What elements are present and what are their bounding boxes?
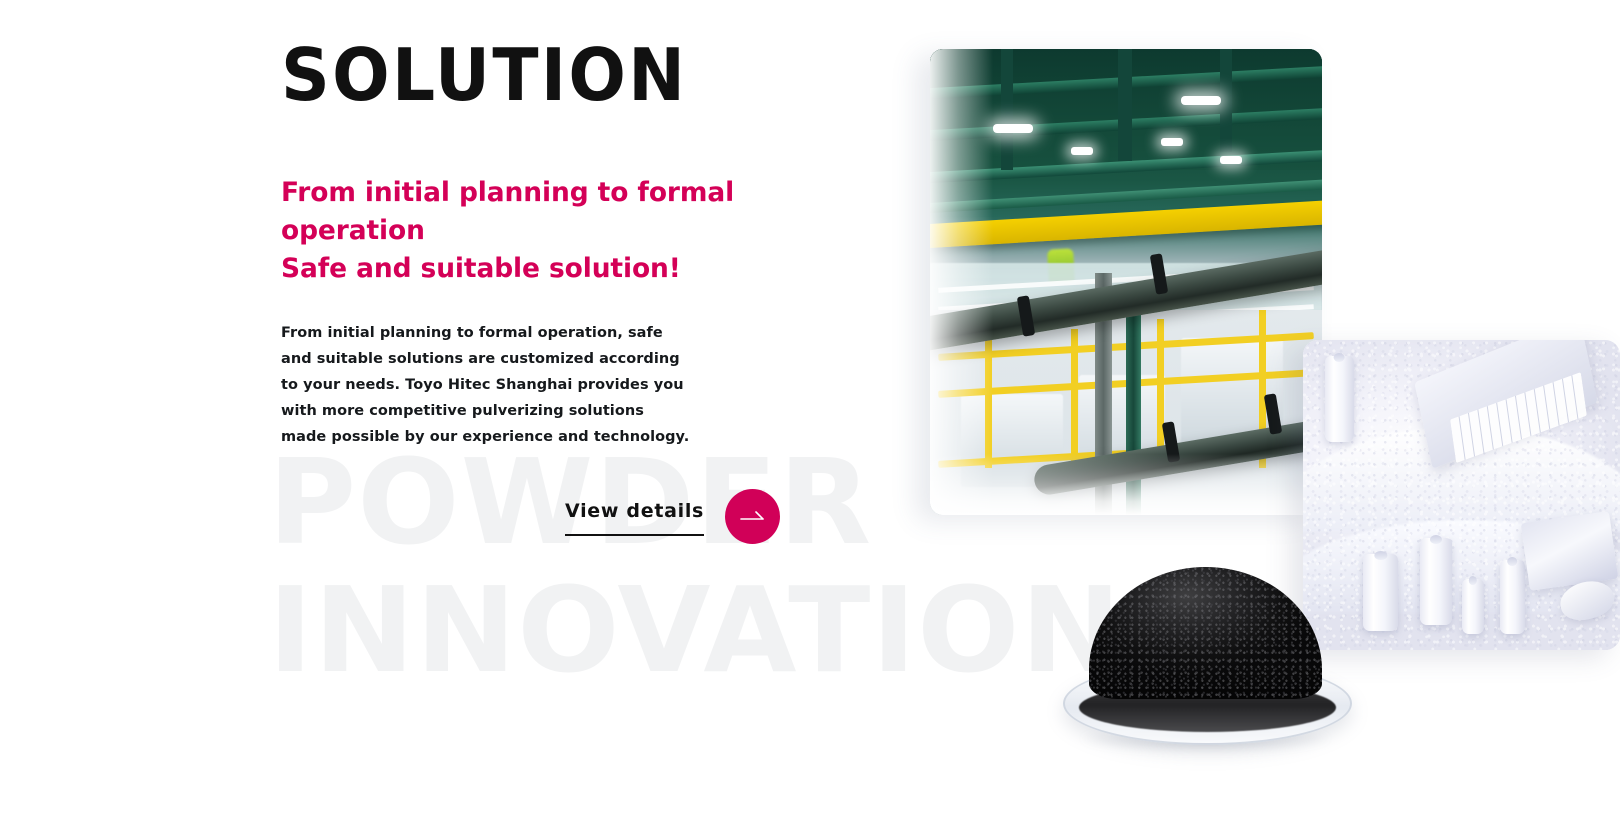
factory-beam [1220,49,1232,152]
factory-ceiling-lamp [1181,96,1221,105]
factory-yellow-post [1071,329,1078,469]
factory-beam [1001,49,1013,170]
display-panel [1521,511,1618,591]
black-powder-grain-texture [1089,567,1323,699]
view-details-button[interactable]: View details [565,489,780,547]
factory-beam [1118,49,1132,161]
factory-ceiling-lamp [1071,147,1093,155]
battery-cell [1420,538,1452,625]
factory-yellow-post [985,338,992,468]
section-headline: From initial planning to formal operatio… [281,174,869,288]
factory-ceiling-lamp [1220,156,1242,164]
white-powder-products-photo [1303,340,1620,650]
factory-ceiling-lamp [993,124,1033,133]
factory-ceiling-lamp [1161,138,1183,146]
battery-cell [1500,560,1525,634]
battery-cell [1325,356,1354,443]
solution-section: POWDER INNOVATION SOLUTION From initial … [0,0,1620,820]
battery-cell [1462,579,1484,635]
view-details-label: View details [565,500,704,522]
arrow-right-icon[interactable] [725,489,780,544]
factory-scene [930,49,1322,515]
page-title: SOLUTION [281,33,864,117]
section-content: SOLUTION From initial planning to formal… [281,33,901,450]
factory-interior-photo [930,49,1322,515]
section-body-text: From initial planning to formal operatio… [281,320,693,450]
battery-cell [1363,554,1398,632]
black-powder-mound [1089,567,1323,699]
headline-line-1: From initial planning to formal operatio… [281,174,869,250]
view-details-label-underline: View details [565,500,704,536]
black-powder-dish-photo [1063,580,1348,745]
headline-line-2: Safe and suitable solution! [281,250,869,288]
